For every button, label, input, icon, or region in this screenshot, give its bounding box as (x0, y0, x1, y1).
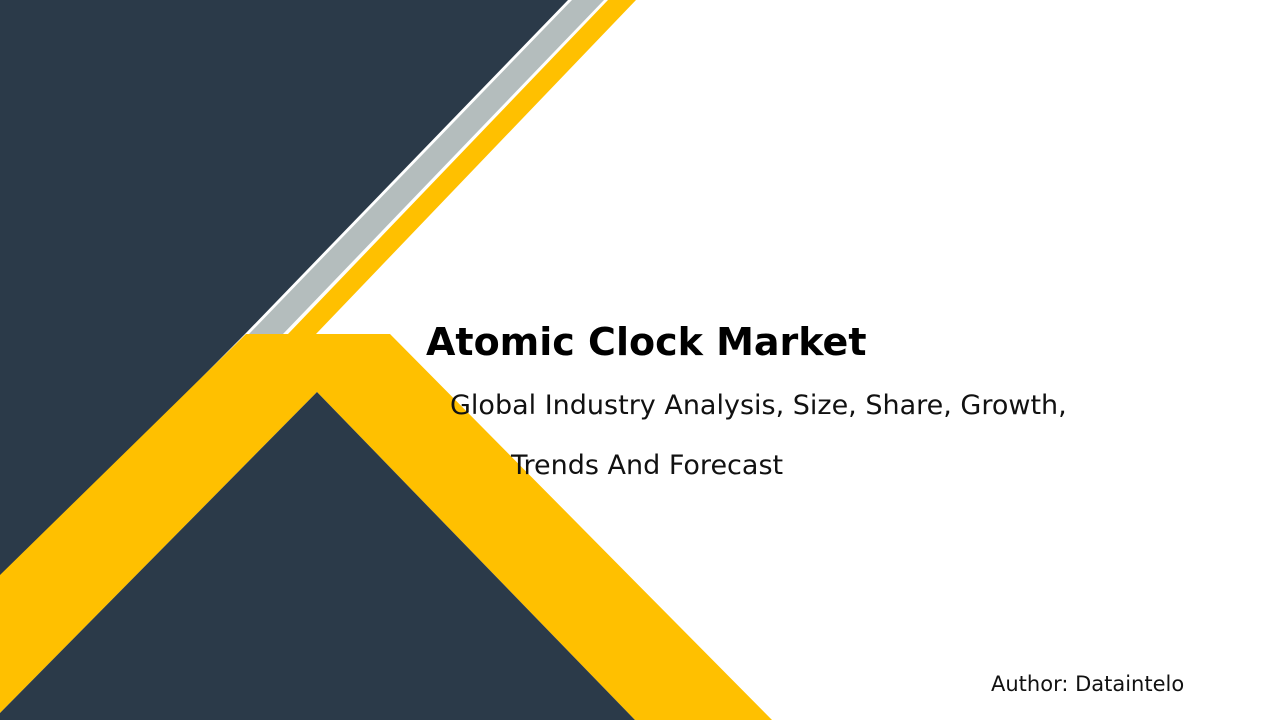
author-credit: Author: Dataintelo (991, 672, 1184, 696)
subtitle-line-1: Global Industry Analysis, Size, Share, G… (450, 390, 1067, 421)
subtitle-line-2: Trends And Forecast (450, 436, 1170, 496)
slide-subtitle: Global Industry Analysis, Size, Share, G… (450, 376, 1170, 496)
page-title: Atomic Clock Market (426, 318, 867, 366)
presentation-slide: Atomic Clock Market Global Industry Anal… (0, 0, 1280, 720)
slide-text-layer: Atomic Clock Market Global Industry Anal… (0, 0, 1280, 720)
